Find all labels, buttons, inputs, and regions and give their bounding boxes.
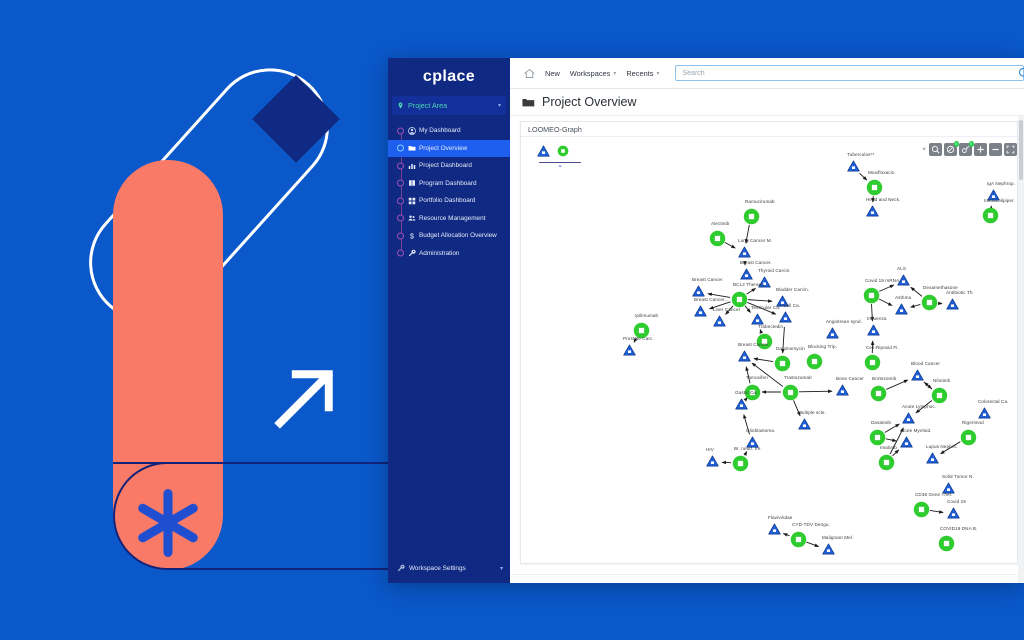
blue-triangle-node-icon	[926, 452, 939, 464]
blue-triangle-node-icon	[713, 315, 726, 327]
book-icon	[408, 179, 416, 187]
green-circle-node-icon	[790, 531, 807, 548]
graph-node-label: Lung Cancer M.	[738, 238, 772, 243]
green-circle-node-icon	[864, 354, 881, 371]
graph-node-label: COVID19 DNA B.	[940, 526, 977, 531]
asterisk-icon	[133, 488, 203, 558]
graph-node-label: Angiotrean synd.	[826, 319, 862, 324]
graph-node-label: Thyroid Carcin.	[758, 268, 791, 273]
blue-triangle-node-icon	[692, 285, 705, 297]
graph-node-label: Bone Cancer	[836, 376, 864, 381]
graph-edge	[879, 299, 892, 306]
topbar-item-label: New	[545, 69, 560, 78]
chevron-down-icon: ▾	[656, 70, 659, 77]
graph-edge	[754, 359, 773, 362]
sidebar-item-budget-allocation-overview[interactable]: $ Budget Allocation Overview	[388, 227, 510, 245]
sidebar-item-label: Budget Allocation Overview	[419, 232, 497, 239]
user-circle-icon	[408, 127, 416, 135]
chart-bars-icon	[408, 162, 416, 170]
graph-node-label: Blocking Trip.	[808, 344, 837, 349]
brand-name: cplace	[423, 68, 475, 86]
topbar-item-label: Workspaces	[570, 69, 611, 78]
wrench-icon	[408, 249, 416, 257]
graph-node-label: J-Cell Ca.	[779, 303, 800, 308]
blue-triangle-node-icon	[738, 350, 751, 362]
graph-edge	[748, 300, 772, 302]
sidebar-item-project-overview[interactable]: Project Overview	[388, 140, 510, 158]
graph-node-label: Nilotinib	[933, 378, 950, 383]
graph-node-label: Br. neutr. tre.	[734, 446, 762, 451]
sidebar-item-label: Program Dashboard	[419, 180, 477, 187]
graph-node-label: Breast Cancer	[738, 342, 769, 347]
green-circle-node-icon	[938, 535, 955, 552]
graph-node-label: Alectinib	[711, 221, 729, 226]
sidebar-item-administration[interactable]: Administration	[388, 245, 510, 263]
green-circle-node-icon	[982, 207, 999, 224]
graph-node-label: Colorectal Ca.	[978, 399, 1009, 404]
graph-node-label: Dasatinib	[871, 420, 891, 425]
topbar-item-workspaces[interactable]: Workspaces ▾	[570, 69, 617, 78]
graph-node-label: IgA Nephrop.	[987, 181, 1015, 186]
sidebar-item-label: Portfolio Dashboard	[419, 197, 475, 204]
blue-triangle-node-icon	[798, 418, 811, 430]
green-circle-node-icon	[732, 455, 749, 472]
blue-triangle-node-icon	[836, 384, 849, 396]
graph-edge	[886, 439, 896, 441]
green-circle-node-icon	[870, 385, 887, 402]
graph-node-label: Liver Cancer	[713, 307, 740, 312]
sidebar-item-project-dashboard[interactable]: Project Dashboard	[388, 157, 510, 175]
blue-triangle-node-icon	[895, 303, 908, 315]
blue-triangle-node-icon	[768, 523, 781, 535]
application-window: cplace Project Area ▾	[388, 58, 1024, 583]
arrow-up-right-icon	[272, 365, 338, 431]
blue-triangle-node-icon	[867, 324, 880, 336]
graph-node-label: Moxifloxacin	[868, 170, 894, 175]
green-circle-node-icon	[806, 353, 823, 370]
project-area-label: Project Area	[408, 101, 494, 110]
main-content: New Workspaces ▾ Recents ▾	[510, 58, 1024, 583]
graph-node-label: CD38 Gene Ther.	[915, 492, 952, 497]
blue-triangle-node-icon	[738, 246, 751, 258]
graph-node-label: Imidazolipiper.	[984, 198, 1015, 203]
blue-triangle-node-icon	[900, 436, 913, 448]
sidebar-item-label: Resource Management	[419, 215, 485, 222]
blue-triangle-node-icon	[623, 344, 636, 356]
graph-node-label: Gastic Ca.	[735, 390, 757, 395]
sidebar-item-label: Administration	[419, 250, 460, 257]
green-circle-node-icon	[731, 291, 748, 308]
graph-edge	[911, 304, 921, 307]
screenshot-canvas: cplace Project Area ▾	[0, 0, 1024, 640]
graph-node-label: Breast Cancer	[692, 277, 723, 282]
sidebar-item-label: Project Dashboard	[419, 162, 472, 169]
sidebar-nav: My Dashboard Project Overview	[388, 122, 510, 262]
blue-triangle-node-icon	[779, 311, 792, 323]
graph-node-label: Testicular Ca.	[751, 305, 780, 310]
vertical-scrollbar[interactable]	[1018, 116, 1024, 583]
people-icon	[408, 214, 416, 222]
graph-node-label: Asthma	[895, 295, 911, 300]
sidebar-item-resource-management[interactable]: Resource Management	[388, 210, 510, 228]
nav-bullet-icon	[397, 250, 404, 257]
card-title: LOOMEO-Graph	[528, 125, 582, 134]
green-circle-node-icon	[709, 230, 726, 247]
project-area-selector[interactable]: Project Area ▾	[392, 96, 506, 115]
blue-triangle-node-icon	[946, 298, 959, 310]
graph-node-label: Breast Cancer...	[694, 297, 729, 302]
top-navigation-bar: New Workspaces ▾ Recents ▾	[510, 58, 1024, 89]
graph-node-label: Rigerimod	[962, 420, 984, 425]
graph-edge	[747, 288, 756, 294]
green-circle-node-icon	[743, 208, 760, 225]
graph-node-label: Lupus Nephrit.	[926, 444, 957, 449]
search-input[interactable]	[682, 70, 1017, 77]
sidebar: cplace Project Area ▾	[388, 58, 510, 583]
sidebar-item-my-dashboard[interactable]: My Dashboard	[388, 122, 510, 140]
graph-edge	[885, 424, 900, 432]
loomeo-graph-card: LOOMEO-Graph	[520, 121, 1018, 564]
topbar-item-label: Recents	[626, 69, 653, 78]
dollar-icon: $	[408, 232, 416, 240]
graph-node-label: Influenza	[867, 316, 887, 321]
decorative-navy-line	[113, 462, 403, 464]
graph-node-label: Head and Neck.	[866, 197, 900, 202]
graph-node-label: Cell-Ripoxid Fi.	[866, 345, 899, 350]
graph-node-label: Tuberculos**	[847, 152, 874, 157]
sidebar-item-program-dashboard[interactable]: Program Dashboard	[388, 175, 510, 193]
graph-node-label: Tamoxifen	[746, 375, 768, 380]
workspace-settings-label: Workspace Settings	[409, 565, 466, 572]
graph-node-label: Antibiotic Th.	[946, 290, 974, 295]
sidebar-item-label: My Dashboard	[419, 127, 461, 134]
blue-triangle-node-icon	[866, 205, 879, 217]
graph-node-label: Malignant Mel.	[822, 535, 853, 540]
graph-node-label: Acute Myeloid.	[900, 428, 932, 433]
graph-node-label: Imatinib	[880, 445, 897, 450]
svg-text:$: $	[410, 233, 414, 240]
nav-bullet-icon	[397, 162, 404, 169]
graph-node-label: Bortezomib	[872, 376, 896, 381]
graph-edge	[799, 391, 832, 392]
graph-node-label: Glioblastoma.	[746, 428, 775, 433]
graph-node-label: Flaviviridae	[768, 515, 792, 520]
sidebar-item-portfolio-dashboard[interactable]: Portfolio Dashboard	[388, 192, 510, 210]
graph-node-label: Dactinomycin	[776, 346, 805, 351]
chevron-down-icon: ▾	[500, 565, 503, 572]
blue-triangle-node-icon	[735, 398, 748, 410]
green-circle-node-icon	[863, 287, 880, 304]
green-circle-node-icon	[913, 501, 930, 518]
graph-node-label: Prostate Carc.	[623, 336, 654, 341]
blue-triangle-node-icon	[740, 268, 753, 280]
nav-bullet-icon	[397, 127, 404, 134]
page-title: Project Overview	[542, 95, 636, 109]
sidebar-item-workspace-settings[interactable]: Workspace Settings ▾	[388, 560, 510, 576]
wrench-icon	[397, 564, 405, 572]
green-circle-node-icon	[960, 429, 977, 446]
graph-node-label: Covid 19	[947, 499, 966, 504]
green-circle-node-icon	[866, 179, 883, 196]
graph-edge	[930, 510, 943, 512]
nav-bullet-icon	[397, 145, 404, 152]
green-circle-node-icon	[878, 454, 895, 471]
blue-triangle-node-icon	[847, 160, 860, 172]
page-header: Project Overview	[510, 89, 1024, 116]
graph-edge	[886, 380, 908, 389]
nav-bullet-icon	[397, 197, 404, 204]
graph-node-label: Trabectedin	[758, 324, 783, 329]
nav-bullet-icon	[397, 232, 404, 239]
blue-triangle-node-icon	[911, 369, 924, 381]
home-icon[interactable]	[524, 68, 535, 79]
green-circle-node-icon	[931, 387, 948, 404]
blue-triangle-node-icon	[978, 407, 991, 419]
blue-triangle-node-icon	[706, 455, 719, 467]
blue-triangle-node-icon	[694, 305, 707, 317]
card-header: LOOMEO-Graph	[521, 122, 1017, 137]
green-circle-node-icon	[921, 294, 938, 311]
graph-edge	[879, 285, 894, 291]
graph-node-label: Acute Lymphoc.	[902, 404, 936, 409]
grid-chart-icon	[408, 197, 416, 205]
sidebar-item-label: Project Overview	[419, 145, 467, 152]
nav-bullet-icon	[397, 180, 404, 187]
graph-node-label: Multiple scle.	[798, 410, 826, 415]
nav-bullet-icon	[397, 215, 404, 222]
blue-triangle-node-icon	[822, 543, 835, 555]
graph-node-label: ALS	[897, 266, 906, 271]
blue-triangle-node-icon	[947, 507, 960, 519]
blue-triangle-node-icon	[902, 412, 915, 424]
graph-node-label: BCL2 Therapy	[733, 282, 764, 287]
graph-node-label: Covid 19 mRNA.	[865, 278, 901, 283]
location-pin-icon	[397, 102, 404, 109]
graph-node-label: CYD-TDV Dengu.	[792, 522, 830, 527]
topbar-item-recents[interactable]: Recents ▾	[626, 69, 659, 78]
chevron-down-icon: ▾	[498, 102, 501, 109]
graph-node-label: Trastuzumab	[784, 375, 812, 380]
search-icon[interactable]	[1018, 67, 1024, 79]
graph-node-label: Bladder Carcin.	[776, 287, 809, 292]
green-circle-node-icon	[782, 384, 799, 401]
green-circle-node-icon	[774, 355, 791, 372]
green-circle-node-icon	[869, 429, 886, 446]
graph-edge	[938, 303, 942, 304]
graph-node-label: Blood Cancer	[911, 361, 940, 366]
graph-node-label: Ramucirumab	[745, 199, 775, 204]
folder-icon	[408, 144, 416, 152]
graph-node-label: Solid Tumor N.	[942, 474, 974, 479]
chevron-down-icon: ▾	[613, 70, 616, 77]
search-field[interactable]	[675, 65, 1024, 81]
scrollbar-thumb[interactable]	[1019, 120, 1023, 180]
horizontal-scroll-area[interactable]	[510, 574, 1024, 583]
graph-node-label: HIV	[706, 447, 714, 452]
folder-open-icon	[522, 97, 535, 108]
blue-triangle-node-icon	[826, 327, 839, 339]
brand-logo[interactable]: cplace	[388, 58, 510, 92]
graph-edge	[725, 242, 735, 248]
graph-edge	[806, 542, 818, 546]
graph-canvas[interactable]: ⌄ ×	[521, 137, 1017, 563]
topbar-item-new[interactable]: New	[545, 69, 560, 78]
graph-node-label: Ipilimumab	[635, 313, 658, 318]
graph-node-label: Breast Cancer.	[740, 260, 772, 265]
